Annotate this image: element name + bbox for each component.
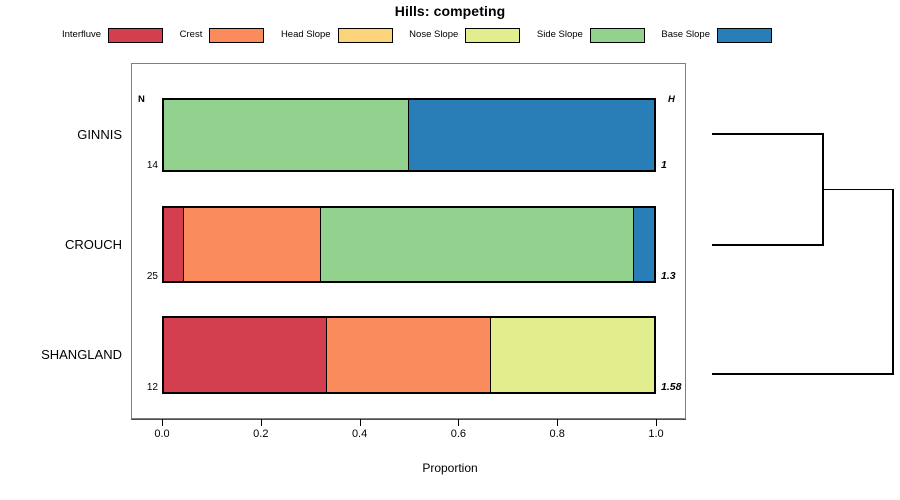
bar-row[interactable] xyxy=(162,98,656,172)
row-label-crouch: CROUCH xyxy=(0,238,122,252)
n-value: 25 xyxy=(132,271,158,282)
bar-segment-side-slope[interactable] xyxy=(164,100,409,170)
x-tick-mark xyxy=(557,419,558,426)
dendro-root-vertical xyxy=(892,189,894,375)
h-value: 1.58 xyxy=(661,382,681,393)
x-tick-label: 0.6 xyxy=(438,428,478,440)
x-tick-label: 0.8 xyxy=(537,428,577,440)
x-tick-label: 0.4 xyxy=(340,428,380,440)
x-axis-line xyxy=(131,419,686,420)
h-column-header: H xyxy=(668,95,675,105)
x-tick-mark xyxy=(656,419,657,426)
bar-segment-crest[interactable] xyxy=(327,318,490,392)
bar-segment-crest[interactable] xyxy=(184,208,321,281)
x-tick-mark xyxy=(261,419,262,426)
dendro-leaf-ginnis xyxy=(712,133,822,135)
bar-segment-base-slope[interactable] xyxy=(409,100,654,170)
dendro-leaf-crouch xyxy=(712,244,822,246)
x-tick-label: 0.2 xyxy=(241,428,281,440)
dendro-merge-1-branch xyxy=(822,189,892,191)
h-value: 1 xyxy=(661,160,667,171)
n-column-header: N xyxy=(138,95,145,105)
bar-segment-nose-slope[interactable] xyxy=(491,318,654,392)
bar-row[interactable] xyxy=(162,316,656,394)
x-tick-label: 1.0 xyxy=(636,428,676,440)
x-tick-mark xyxy=(162,419,163,426)
h-value: 1.3 xyxy=(661,271,676,282)
row-label-shangland: SHANGLAND xyxy=(0,348,122,362)
bar-segment-interfluve[interactable] xyxy=(164,208,184,281)
bar-row[interactable] xyxy=(162,206,656,283)
bar-segment-base-slope[interactable] xyxy=(634,208,654,281)
n-value: 12 xyxy=(132,382,158,393)
dendrogram xyxy=(690,60,900,420)
x-tick-label: 0.0 xyxy=(142,428,182,440)
dendro-leaf-shangland xyxy=(712,373,892,375)
bar-segment-side-slope[interactable] xyxy=(321,208,635,281)
chart-root: Hills: competing InterfluveCrestHead Slo… xyxy=(0,0,900,500)
bar-segment-interfluve[interactable] xyxy=(164,318,327,392)
x-tick-mark xyxy=(360,419,361,426)
n-value: 14 xyxy=(132,160,158,171)
x-axis-title: Proportion xyxy=(0,461,900,475)
row-label-ginnis: GINNIS xyxy=(0,128,122,142)
x-tick-mark xyxy=(458,419,459,426)
